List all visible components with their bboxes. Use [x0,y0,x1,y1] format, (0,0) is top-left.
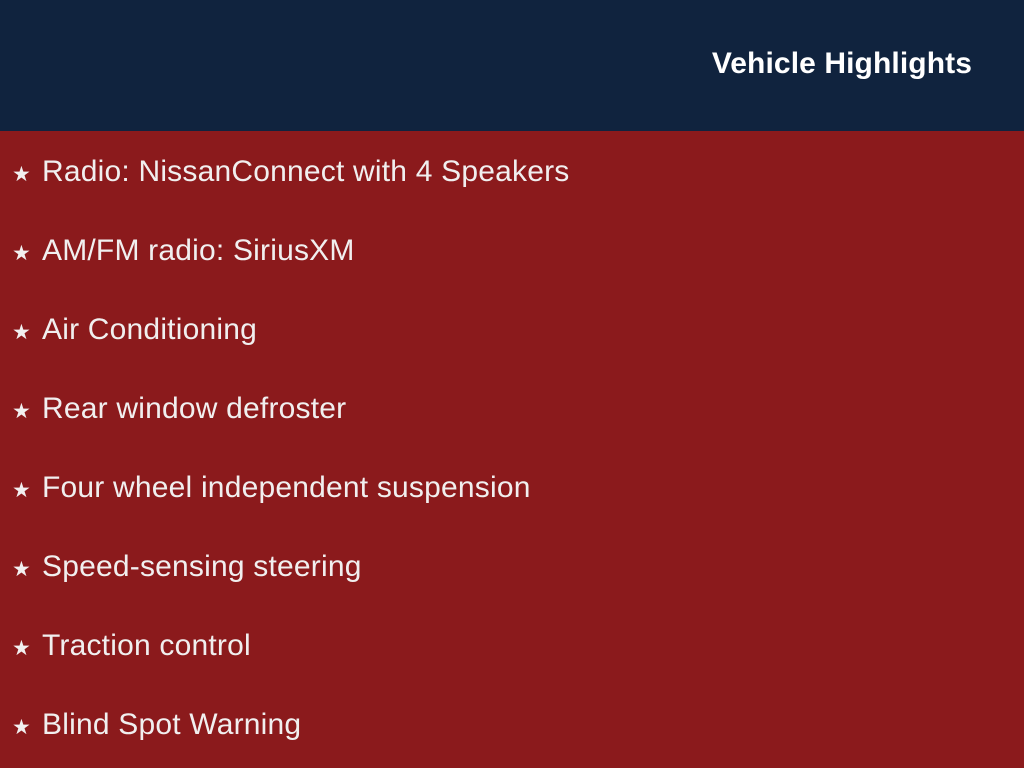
list-item: ★ Four wheel independent suspension [0,471,1024,550]
star-bullet-icon: ★ [12,552,42,586]
list-item: ★ Traction control [0,629,1024,708]
star-bullet-icon: ★ [12,631,42,665]
list-item-label: Rear window defroster [42,392,1024,426]
list-item-label: Blind Spot Warning [42,708,1024,742]
list-item-label: Air Conditioning [42,313,1024,347]
list-item: ★ Air Conditioning [0,313,1024,392]
list-item: ★ Rear window defroster [0,392,1024,471]
list-item: ★ Speed-sensing steering [0,550,1024,629]
list-item-label: Four wheel independent suspension [42,471,1024,505]
star-bullet-icon: ★ [12,394,42,428]
vehicle-highlights-list: ★ Radio: NissanConnect with 4 Speakers ★… [0,131,1024,768]
list-item-label: Radio: NissanConnect with 4 Speakers [42,155,1024,189]
page-title: Vehicle Highlights [712,46,972,82]
list-item-label: AM/FM radio: SiriusXM [42,234,1024,268]
slide-body: ★ Radio: NissanConnect with 4 Speakers ★… [0,131,1024,768]
star-bullet-icon: ★ [12,157,42,191]
list-item: ★ AM/FM radio: SiriusXM [0,234,1024,313]
list-item: ★ Radio: NissanConnect with 4 Speakers [0,131,1024,234]
list-item-label: Speed-sensing steering [42,550,1024,584]
star-bullet-icon: ★ [12,473,42,507]
slide-header-band: Vehicle Highlights [0,0,1024,131]
star-bullet-icon: ★ [12,710,42,744]
vehicle-highlights-slide: Vehicle Highlights ★ Radio: NissanConnec… [0,0,1024,768]
list-item-label: Traction control [42,629,1024,663]
star-bullet-icon: ★ [12,236,42,270]
list-item: ★ Blind Spot Warning [0,708,1024,768]
star-bullet-icon: ★ [12,315,42,349]
